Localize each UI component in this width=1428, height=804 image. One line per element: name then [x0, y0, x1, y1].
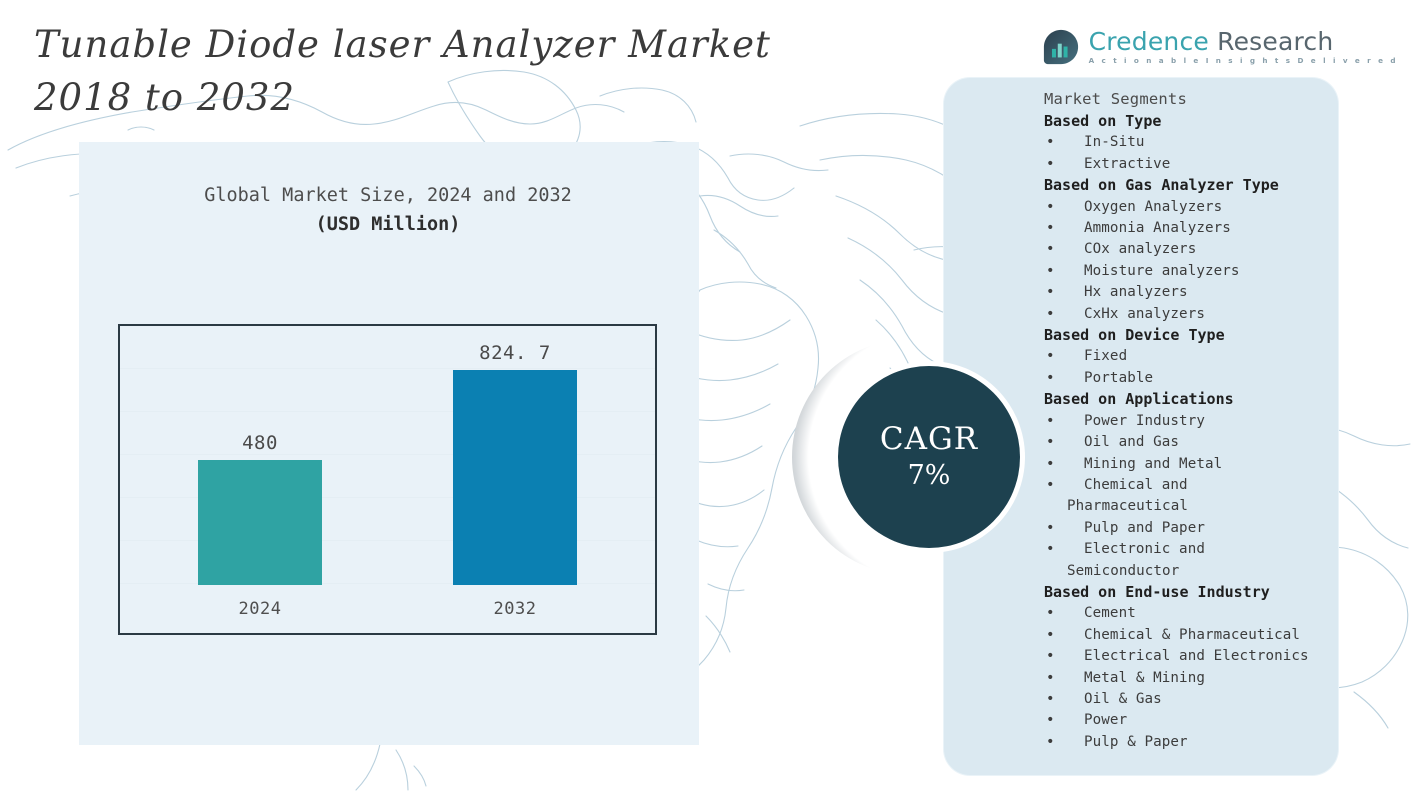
segment-list-item[interactable]: •Oil and Gas: [1044, 432, 1344, 453]
segment-list-item[interactable]: •Chemical & Pharmaceutical: [1044, 625, 1344, 646]
segment-group-heading: Based on Device Type: [1044, 325, 1344, 346]
segment-item-label: Pulp and Paper: [1084, 518, 1344, 539]
bar-series: 480 2024 824. 7 2032: [120, 370, 655, 585]
segment-item-label: Ammonia Analyzers: [1084, 218, 1344, 239]
segment-list-item[interactable]: •Ammonia Analyzers: [1044, 218, 1344, 239]
segment-list-item[interactable]: •CxHx analyzers: [1044, 304, 1344, 325]
segment-item-label: COx analyzers: [1084, 239, 1344, 260]
bullet-icon: •: [1046, 689, 1055, 710]
bar-value-2032: 824. 7: [453, 342, 577, 364]
segment-list-item[interactable]: •Fixed: [1044, 346, 1344, 367]
segment-list-item[interactable]: •Extractive: [1044, 154, 1344, 175]
segment-item-label: Oxygen Analyzers: [1084, 197, 1344, 218]
segment-item-label: Chemical & Pharmaceutical: [1084, 625, 1344, 646]
logo-brand-first: Credence: [1089, 27, 1209, 56]
segment-item-label: Electronic and: [1084, 539, 1344, 560]
bar-value-2024: 480: [198, 432, 322, 454]
bullet-icon: •: [1046, 475, 1055, 496]
bullet-icon: •: [1046, 239, 1055, 260]
segment-list-item[interactable]: •Power Industry: [1044, 411, 1344, 432]
segment-item-label: Extractive: [1084, 154, 1344, 175]
segment-item-label-continuation: Semiconductor: [1067, 561, 1344, 582]
bar-category-2032: 2032: [453, 599, 577, 619]
bullet-icon: •: [1046, 197, 1055, 218]
bullet-icon: •: [1046, 625, 1055, 646]
bullet-icon: •: [1046, 304, 1055, 325]
bar-group-2024: 480 2024: [198, 370, 322, 585]
segment-list-item[interactable]: •Cement: [1044, 603, 1344, 624]
segments-groups: Based on Type•In-Situ•ExtractiveBased on…: [1044, 111, 1344, 753]
market-segments-list: Market Segments Based on Type•In-Situ•Ex…: [1044, 88, 1344, 753]
bullet-icon: •: [1046, 518, 1055, 539]
bullet-icon: •: [1046, 539, 1055, 560]
segment-list-item[interactable]: •Oxygen Analyzers: [1044, 197, 1344, 218]
bullet-icon: •: [1046, 732, 1055, 753]
segment-item-label: Portable: [1084, 368, 1344, 389]
cagr-value: 7%: [908, 458, 951, 494]
segment-item-label: CxHx analyzers: [1084, 304, 1344, 325]
segment-list-item[interactable]: •Pulp and Paper: [1044, 518, 1344, 539]
infographic-page: Tunable Diode laser Analyzer Market 2018…: [0, 0, 1428, 804]
segment-item-label: Oil & Gas: [1084, 689, 1344, 710]
bullet-icon: •: [1046, 154, 1055, 175]
page-title: Tunable Diode laser Analyzer Market 2018…: [34, 18, 914, 124]
segment-item-label: Pulp & Paper: [1084, 732, 1344, 753]
bullet-icon: •: [1046, 218, 1055, 239]
segment-item-label: Metal & Mining: [1084, 668, 1344, 689]
segment-item-label: In-Situ: [1084, 132, 1344, 153]
chart-title: Global Market Size, 2024 and 2032: [118, 182, 658, 210]
bullet-icon: •: [1046, 132, 1055, 153]
segment-item-label: Oil and Gas: [1084, 432, 1344, 453]
brand-logo[interactable]: Credence Research A c t i o n a b l e I …: [1042, 28, 1398, 66]
segment-list-item[interactable]: •Oil & Gas: [1044, 689, 1344, 710]
segment-list-item[interactable]: •Electronic andSemiconductor: [1044, 539, 1344, 582]
segment-item-label: Mining and Metal: [1084, 454, 1344, 475]
bullet-icon: •: [1046, 368, 1055, 389]
logo-tagline: A c t i o n a b l e I n s i g h t s D e …: [1089, 56, 1398, 65]
segment-item-label: Moisture analyzers: [1084, 261, 1344, 282]
segment-group-heading: Based on Type: [1044, 111, 1344, 132]
bullet-icon: •: [1046, 454, 1055, 475]
segment-list-item[interactable]: •Chemical andPharmaceutical: [1044, 475, 1344, 518]
segment-list-item[interactable]: •Mining and Metal: [1044, 454, 1344, 475]
segment-item-label: Power Industry: [1084, 411, 1344, 432]
segment-item-label: Fixed: [1084, 346, 1344, 367]
segment-item-label: Electrical and Electronics: [1084, 646, 1344, 667]
bullet-icon: •: [1046, 603, 1055, 624]
segment-list-item[interactable]: •Power: [1044, 710, 1344, 731]
bullet-icon: •: [1046, 432, 1055, 453]
segment-group-heading: Based on Gas Analyzer Type: [1044, 175, 1344, 196]
segment-item-label: Hx analyzers: [1084, 282, 1344, 303]
gridline: [120, 368, 655, 369]
segment-list-item[interactable]: •Hx analyzers: [1044, 282, 1344, 303]
segment-group-heading: Based on End-use Industry: [1044, 582, 1344, 603]
chart-subtitle: (USD Million): [118, 211, 658, 239]
segment-list-item[interactable]: •In-Situ: [1044, 132, 1344, 153]
bullet-icon: •: [1046, 346, 1055, 367]
segment-list-item[interactable]: •Moisture analyzers: [1044, 261, 1344, 282]
segment-item-label: Chemical and: [1084, 475, 1344, 496]
bar-chart: 480 2024 824. 7 2032: [118, 324, 657, 635]
bullet-icon: •: [1046, 710, 1055, 731]
bullet-icon: •: [1046, 282, 1055, 303]
logo-brand-second: Research: [1209, 27, 1333, 56]
bullet-icon: •: [1046, 646, 1055, 667]
circle-bar-chart-icon: [1042, 28, 1080, 66]
bullet-icon: •: [1046, 261, 1055, 282]
segment-item-label: Power: [1084, 710, 1344, 731]
plot-area: 480 2024 824. 7 2032: [120, 326, 655, 633]
cagr-badge: CAGR 7%: [838, 366, 1020, 548]
segment-list-item[interactable]: •COx analyzers: [1044, 239, 1344, 260]
segment-list-item[interactable]: •Metal & Mining: [1044, 668, 1344, 689]
segment-list-item[interactable]: •Pulp & Paper: [1044, 732, 1344, 753]
bullet-icon: •: [1046, 668, 1055, 689]
bar-category-2024: 2024: [198, 599, 322, 619]
segments-heading: Market Segments: [1044, 88, 1344, 111]
chart-heading-block: Global Market Size, 2024 and 2032 (USD M…: [118, 182, 658, 239]
bar-group-2032: 824. 7 2032: [453, 370, 577, 585]
bullet-icon: •: [1046, 411, 1055, 432]
segment-item-label-continuation: Pharmaceutical: [1067, 496, 1344, 517]
bar-2032[interactable]: [453, 370, 577, 585]
segment-item-label: Cement: [1084, 603, 1344, 624]
cagr-label: CAGR: [880, 420, 978, 458]
logo-text: Credence Research A c t i o n a b l e I …: [1089, 29, 1398, 65]
segment-group-heading: Based on Applications: [1044, 389, 1344, 410]
segment-list-item[interactable]: •Portable: [1044, 368, 1344, 389]
segment-list-item[interactable]: •Electrical and Electronics: [1044, 646, 1344, 667]
bar-2024[interactable]: [198, 460, 322, 585]
